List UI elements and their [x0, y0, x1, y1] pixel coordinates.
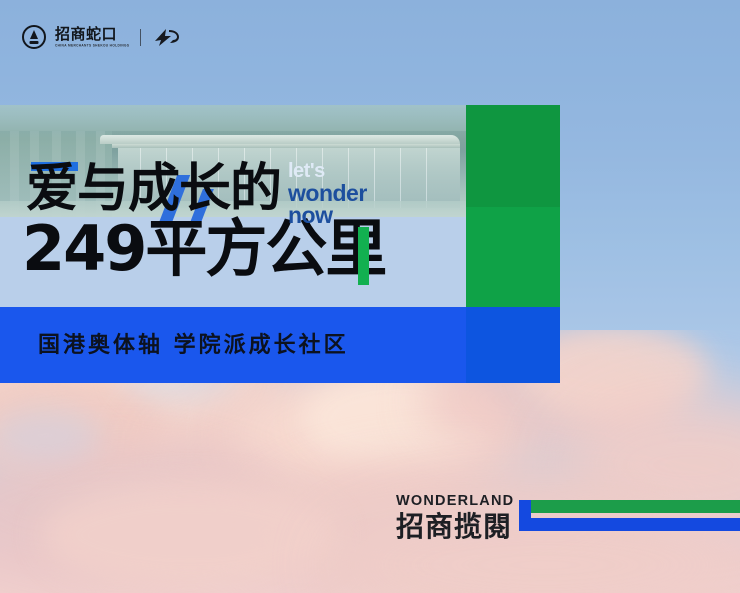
corporate-logo-text: 招商蛇口 CHINA MERCHANTS SHEKOU HOLDINGS [55, 27, 129, 47]
headline-line-1: 爱与成长的 [26, 163, 281, 215]
project-name-en: WONDERLAND [396, 494, 514, 509]
company-name-en: CHINA MERCHANTS SHEKOU HOLDINGS [55, 44, 129, 48]
green-stroke-accent [358, 227, 369, 285]
logo-divider [140, 29, 141, 46]
poster-canvas: 招商蛇口 CHINA MERCHANTS SHEKOU HOLDINGS [0, 0, 740, 593]
headline-group: 爱与成长的 249平方公里 let's wonder now 国港奥体轴 学院派… [0, 105, 560, 383]
english-tagline-line-2: wonder [288, 182, 367, 205]
english-tagline: let's wonder now [288, 162, 367, 227]
company-name-cn: 招商蛇口 [55, 27, 129, 42]
hero-banner: 爱与成长的 249平方公里 let's wonder now 国港奥体轴 学院派… [0, 105, 560, 383]
brand-color-bars [519, 500, 740, 538]
brand-bar-blue [519, 518, 740, 531]
china-merchants-emblem-icon [22, 25, 46, 49]
project-brand-text: WONDERLAND 招商揽閱 [396, 494, 514, 541]
brand-bar-green [519, 500, 740, 513]
project-brand-lockup: WONDERLAND 招商揽閱 [396, 494, 514, 541]
english-tagline-line-3: now [288, 204, 367, 227]
anniversary-45-icon [152, 27, 182, 47]
english-tagline-line-1: let's [288, 162, 367, 182]
project-name-cn: 招商揽閱 [396, 513, 512, 541]
corporate-logo: 招商蛇口 CHINA MERCHANTS SHEKOU HOLDINGS [22, 25, 182, 49]
banner-subtitle: 国港奥体轴 学院派成长社区 [38, 327, 349, 359]
